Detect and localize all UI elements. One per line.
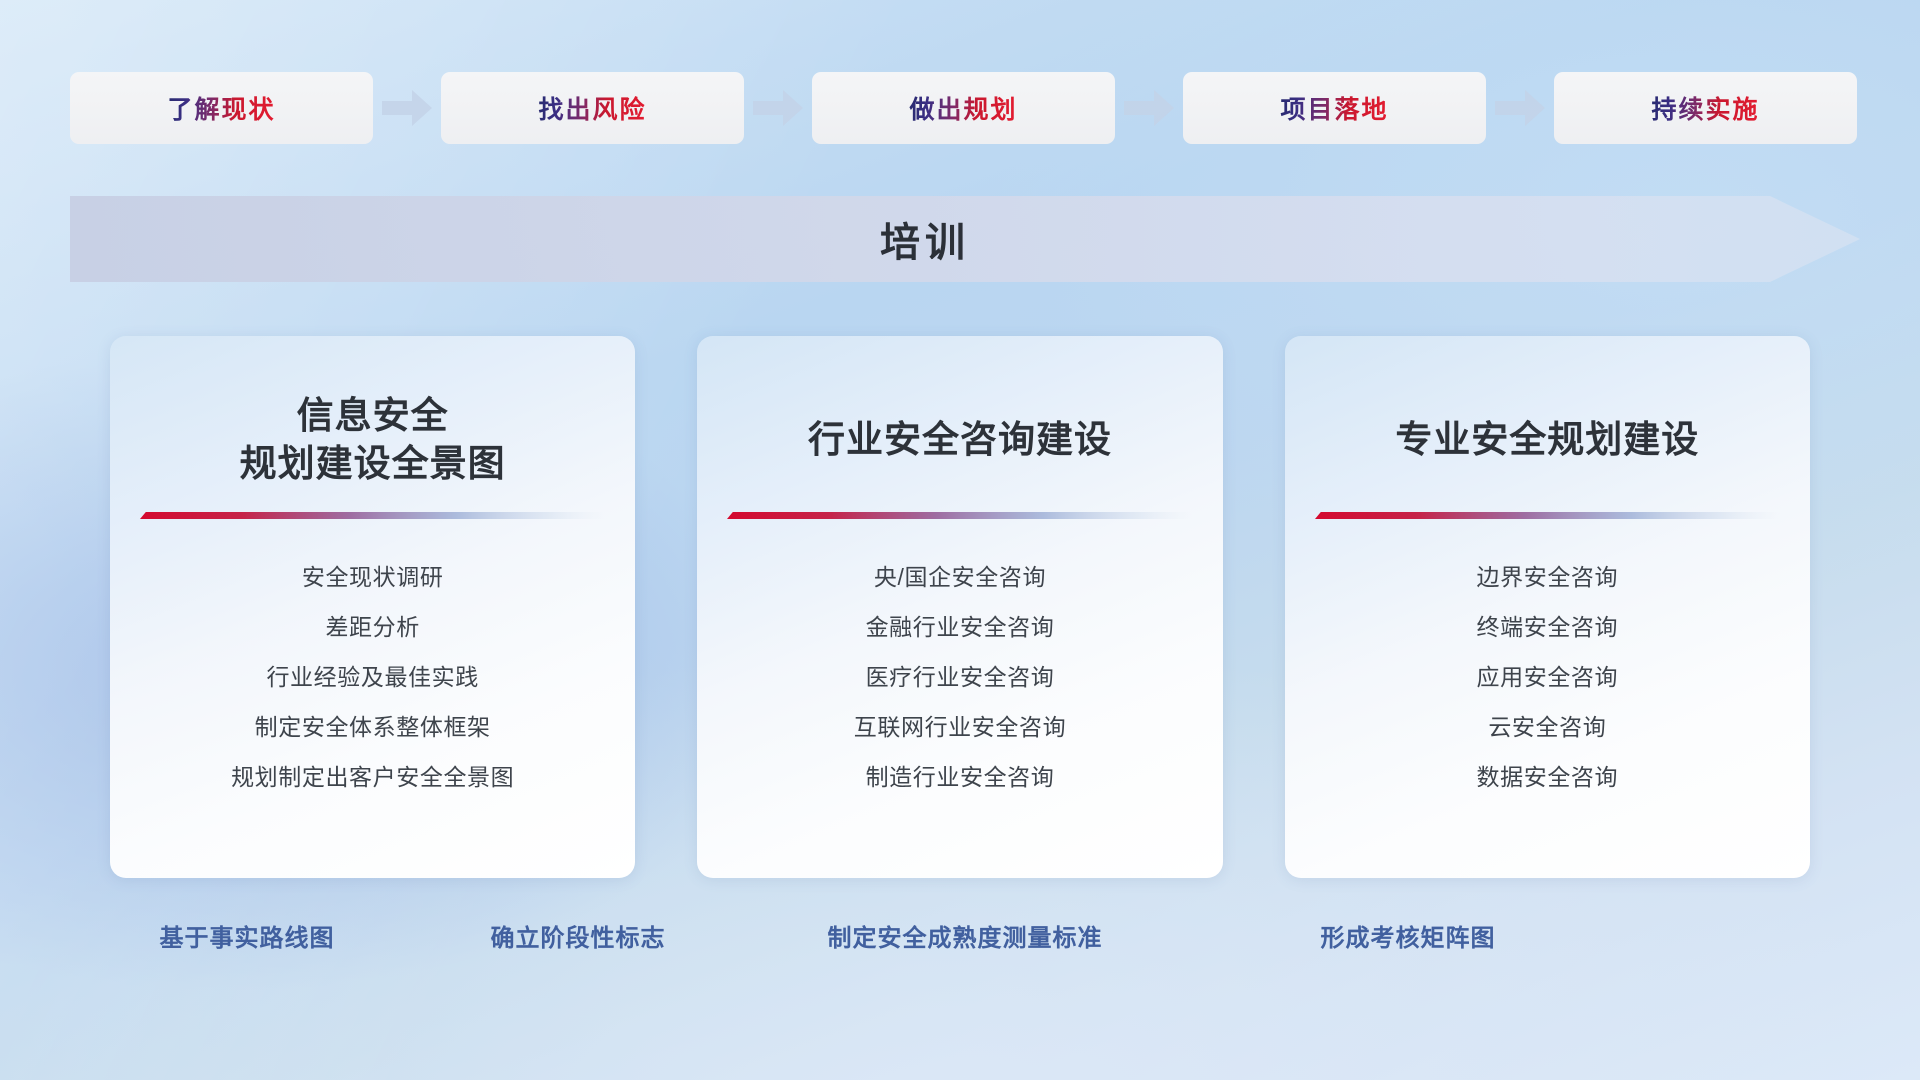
list-item: 终端安全咨询 — [1311, 602, 1784, 652]
list-item: 应用安全咨询 — [1311, 652, 1784, 702]
step-label: 找出风险 — [538, 90, 646, 126]
card-item-list: 安全现状调研 差距分析 行业经验及最佳实践 制定安全体系整体框架 规划制定出客户… — [136, 552, 609, 802]
card-title: 专业安全规划建设 — [1311, 392, 1784, 488]
step-box-4[interactable]: 项目落地 — [1183, 72, 1486, 144]
process-step-row: 了解现状 找出风险 做出规划 项目落地 — [70, 72, 1860, 144]
list-item: 云安全咨询 — [1311, 702, 1784, 752]
arrow-right-icon — [744, 72, 812, 144]
caption-1: 基于事实路线图 — [160, 918, 335, 953]
card-information-security-blueprint[interactable]: 信息安全 规划建设全景图 — [110, 336, 635, 878]
step-box-2[interactable]: 找出风险 — [441, 72, 744, 144]
step-label: 做出规划 — [909, 90, 1017, 126]
training-banner-label: 培训 — [70, 196, 1860, 282]
infographic-page: 了解现状 找出风险 做出规划 项目落地 — [0, 0, 1920, 1080]
card-title: 信息安全 规划建设全景图 — [136, 392, 609, 488]
arrow-right-icon — [1115, 72, 1183, 144]
card-professional-security-planning[interactable]: 专业安全规划建设 — [1285, 336, 1810, 878]
step-label: 了解现状 — [167, 90, 275, 126]
list-item: 制定安全体系整体框架 — [136, 702, 609, 752]
caption-4: 形成考核矩阵图 — [1321, 918, 1496, 953]
card-row: 信息安全 规划建设全景图 — [110, 336, 1810, 878]
step-label: 持续实施 — [1651, 90, 1759, 126]
card-divider-rule — [140, 510, 605, 524]
list-item: 互联网行业安全咨询 — [723, 702, 1196, 752]
arrow-right-icon — [373, 72, 441, 144]
card-divider-rule — [1315, 510, 1780, 524]
step-label: 项目落地 — [1280, 90, 1388, 126]
list-item: 安全现状调研 — [136, 552, 609, 602]
card-item-list: 边界安全咨询 终端安全咨询 应用安全咨询 云安全咨询 数据安全咨询 — [1311, 552, 1784, 802]
footer-caption-row: 基于事实路线图 确立阶段性标志 制定安全成熟度测量标准 形成考核矩阵图 — [0, 918, 1920, 962]
step-box-5[interactable]: 持续实施 — [1554, 72, 1857, 144]
caption-2: 确立阶段性标志 — [491, 918, 666, 953]
caption-3: 制定安全成熟度测量标准 — [828, 918, 1103, 953]
list-item: 行业经验及最佳实践 — [136, 652, 609, 702]
list-item: 央/国企安全咨询 — [723, 552, 1196, 602]
list-item: 金融行业安全咨询 — [723, 602, 1196, 652]
list-item: 边界安全咨询 — [1311, 552, 1784, 602]
card-item-list: 央/国企安全咨询 金融行业安全咨询 医疗行业安全咨询 互联网行业安全咨询 制造行… — [723, 552, 1196, 802]
arrow-right-icon — [1486, 72, 1554, 144]
list-item: 差距分析 — [136, 602, 609, 652]
list-item: 医疗行业安全咨询 — [723, 652, 1196, 702]
card-title: 行业安全咨询建设 — [723, 392, 1196, 488]
step-box-1[interactable]: 了解现状 — [70, 72, 373, 144]
card-divider-rule — [727, 510, 1192, 524]
training-banner: 培训 — [70, 196, 1860, 282]
list-item: 规划制定出客户安全全景图 — [136, 752, 609, 802]
list-item: 数据安全咨询 — [1311, 752, 1784, 802]
list-item: 制造行业安全咨询 — [723, 752, 1196, 802]
card-industry-security-consulting[interactable]: 行业安全咨询建设 — [697, 336, 1222, 878]
step-box-3[interactable]: 做出规划 — [812, 72, 1115, 144]
